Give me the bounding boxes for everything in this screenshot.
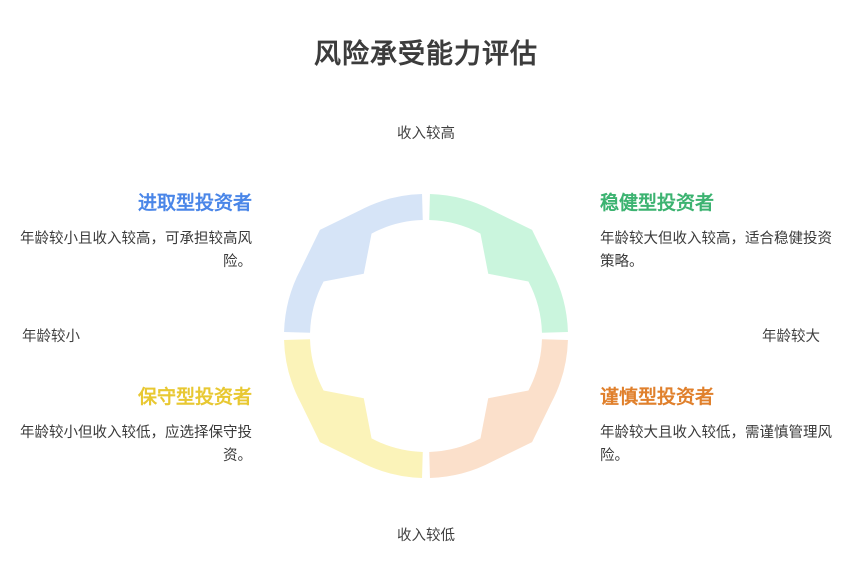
cycle-segment-cautious — [429, 339, 568, 478]
axis-label-top: 收入较高 — [0, 122, 852, 143]
quadrant-cautious-description: 年龄较大且收入较低，需谨慎管理风险。 — [600, 422, 838, 469]
quadrant-conservative-heading: 保守型投资者 — [14, 386, 252, 410]
axis-label-right: 年龄较大 — [762, 325, 820, 346]
quadrant-aggressive: 进取型投资者 年龄较小且收入较高，可承担较高风险。 — [14, 192, 252, 275]
quadrant-conservative: 保守型投资者 年龄较小但收入较低，应选择保守投资。 — [14, 386, 252, 469]
quadrant-conservative-description: 年龄较小但收入较低，应选择保守投资。 — [14, 422, 252, 469]
quadrant-steady-description: 年龄较大但收入较高，适合稳健投资策略。 — [600, 228, 838, 275]
quadrant-steady: 稳健型投资者 年龄较大但收入较高，适合稳健投资策略。 — [600, 192, 838, 275]
cycle-segment-steady — [429, 194, 568, 333]
quadrant-aggressive-description: 年龄较小且收入较高，可承担较高风险。 — [14, 228, 252, 275]
quadrant-cautious-heading: 谨慎型投资者 — [600, 386, 838, 410]
quadrant-aggressive-heading: 进取型投资者 — [14, 192, 252, 216]
cycle-segment-aggressive — [284, 194, 423, 333]
cycle-segment-conservative — [284, 339, 423, 478]
quadrant-steady-heading: 稳健型投资者 — [600, 192, 838, 216]
cycle-donut-svg — [276, 186, 576, 486]
cycle-donut-diagram — [276, 186, 576, 486]
risk-assessment-chart: 风险承受能力评估 收入较高 收入较低 年龄较小 年龄较大 进取型投资者 年龄较小… — [0, 0, 852, 567]
page-title: 风险承受能力评估 — [0, 32, 852, 71]
axis-label-left: 年龄较小 — [22, 325, 80, 346]
quadrant-cautious: 谨慎型投资者 年龄较大且收入较低，需谨慎管理风险。 — [600, 386, 838, 469]
axis-label-bottom: 收入较低 — [0, 524, 852, 545]
